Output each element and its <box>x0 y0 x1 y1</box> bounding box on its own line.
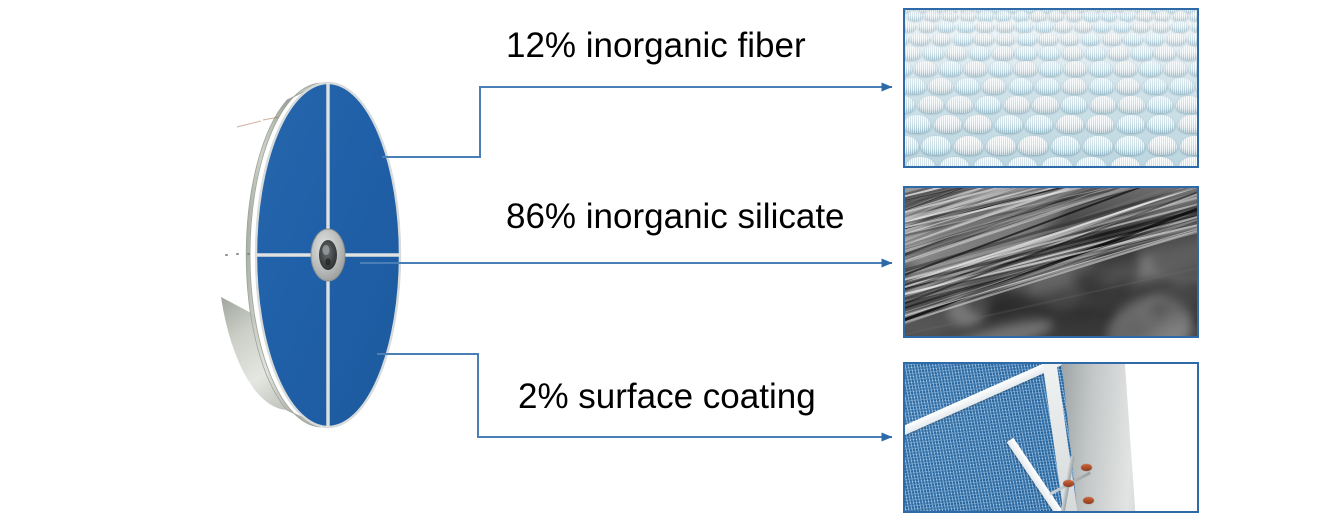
woven-inorganic-fiber-thumbnail[interactable] <box>903 8 1199 168</box>
callout-label-fiber: 12% inorganic fiber <box>506 28 806 63</box>
rotor-svg <box>195 65 430 445</box>
connector-line-fiber <box>382 87 892 157</box>
callout-label-silicate: 86% inorganic silicate <box>506 199 845 234</box>
rotor-hub <box>311 229 345 281</box>
woven-fiber-image <box>905 10 1197 166</box>
callout-label-coating: 2% surface coating <box>518 379 816 414</box>
desiccant-rotor-wheel <box>195 65 430 445</box>
diagram-canvas: 12% inorganic fiber 86% inorganic silica… <box>0 0 1340 520</box>
silicate-micrograph-image <box>905 188 1197 336</box>
silicate-micrograph-thumbnail[interactable] <box>903 186 1199 338</box>
rotor-surface-coating-thumbnail[interactable] <box>903 362 1199 513</box>
rotor-coating-image <box>905 364 1197 511</box>
